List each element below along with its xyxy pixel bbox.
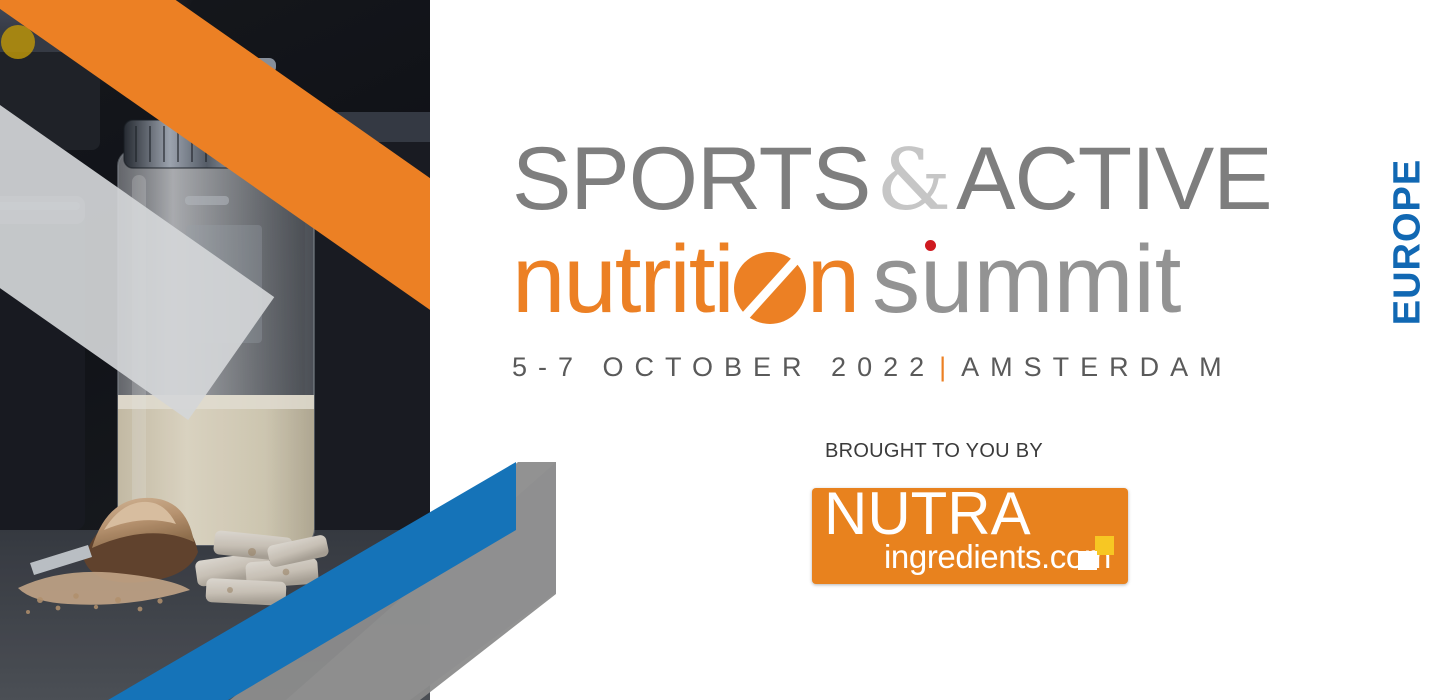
dateline-separator: |	[935, 352, 961, 382]
event-city: AMSTERDAM	[961, 352, 1233, 382]
logo-word-sports: SPORTS	[512, 128, 870, 228]
yellow-square-shape	[1095, 536, 1114, 555]
nutraingredients-logo[interactable]: NUTRA ingredients.com	[812, 488, 1128, 584]
logo-word-active: ACTIVE	[956, 128, 1271, 228]
event-dateline: 5-7 OCTOBER 2022|AMSTERDAM	[512, 352, 1432, 383]
sponsor-section: BROUGHT TO YOU BY NUTRA ingredients.com	[430, 440, 1438, 463]
hero-photo	[0, 0, 430, 700]
logo-word-nutrition-part1: nutriti	[512, 226, 733, 333]
sponsor-label: BROUGHT TO YOU BY	[430, 440, 1438, 463]
event-logo: SPORTS&ACTIVE nutritinsummit EUROPE 5-7 …	[430, 128, 1438, 393]
event-banner: SPORTS&ACTIVE nutritinsummit EUROPE 5-7 …	[0, 0, 1438, 700]
logo-line-sports-active: SPORTS&ACTIVE	[512, 134, 1272, 223]
event-dates: 5-7 OCTOBER 2022	[512, 352, 935, 382]
banner-content: SPORTS&ACTIVE nutritinsummit EUROPE 5-7 …	[430, 0, 1438, 700]
nutra-wordmark-top: NUTRA	[824, 488, 1031, 544]
logo-word-nutrition-part2: n	[807, 226, 858, 333]
nutra-wordmark-bottom: ingredients.com	[884, 540, 1111, 573]
red-tittle-dot-icon	[925, 240, 936, 251]
two-squares-mark-icon	[1078, 536, 1114, 570]
logo-line-nutrition-summit: nutritinsummit	[512, 232, 1181, 328]
slashed-circle-o-icon	[734, 252, 806, 324]
protein-shaker-photo	[0, 0, 430, 700]
logo-word-summit: summit	[858, 226, 1181, 333]
logo-ampersand: &	[870, 131, 956, 229]
logo-region-europe: EUROPE	[1386, 144, 1430, 340]
white-square-shape	[1078, 551, 1097, 570]
logo-region-label: EUROPE	[1387, 159, 1430, 325]
event-logo-wordmark: SPORTS&ACTIVE nutritinsummit	[512, 128, 1372, 343]
